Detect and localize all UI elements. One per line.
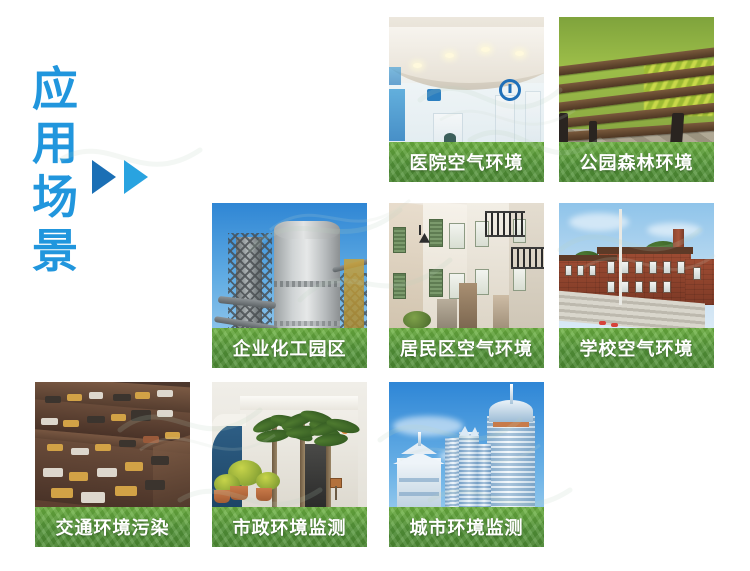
page-title-char-4: 景 xyxy=(32,228,78,274)
scenario-caption-park: 公园森林环境 xyxy=(559,142,714,182)
play-triangle-icon-light xyxy=(124,160,148,194)
scenario-caption-city: 城市环境监测 xyxy=(389,507,544,547)
scenario-tile-municipal[interactable]: 市政环境监测 xyxy=(212,382,367,547)
scenario-tile-park[interactable]: 公园森林环境 xyxy=(559,17,714,182)
scenario-tile-traffic[interactable]: 交通环境污染 xyxy=(35,382,190,547)
scenario-caption-residential: 居民区空气环境 xyxy=(389,328,544,368)
application-scenarios-banner: 应 用 场 景 医院空气环境 xyxy=(0,0,750,571)
arrow-group xyxy=(92,160,148,194)
page-title-char-2: 用 xyxy=(32,120,78,166)
scenario-tile-school[interactable]: 学校空气环境 xyxy=(559,203,714,368)
play-triangle-icon-dark xyxy=(92,160,116,194)
scenario-caption-municipal: 市政环境监测 xyxy=(212,507,367,547)
page-title-char-3: 场 xyxy=(32,174,78,220)
scenario-caption-hospital: 医院空气环境 xyxy=(389,142,544,182)
scenario-caption-traffic: 交通环境污染 xyxy=(35,507,190,547)
scenario-tile-chemical[interactable]: 企业化工园区 xyxy=(212,203,367,368)
scenario-tile-hospital[interactable]: 医院空气环境 xyxy=(389,17,544,182)
scenario-caption-school: 学校空气环境 xyxy=(559,328,714,368)
page-title-char-1: 应 xyxy=(32,66,78,112)
page-title: 应 用 场 景 xyxy=(24,66,86,274)
scenario-caption-chemical: 企业化工园区 xyxy=(212,328,367,368)
scenario-tile-residential[interactable]: 居民区空气环境 xyxy=(389,203,544,368)
scenario-tile-city[interactable]: 城市环境监测 xyxy=(389,382,544,547)
